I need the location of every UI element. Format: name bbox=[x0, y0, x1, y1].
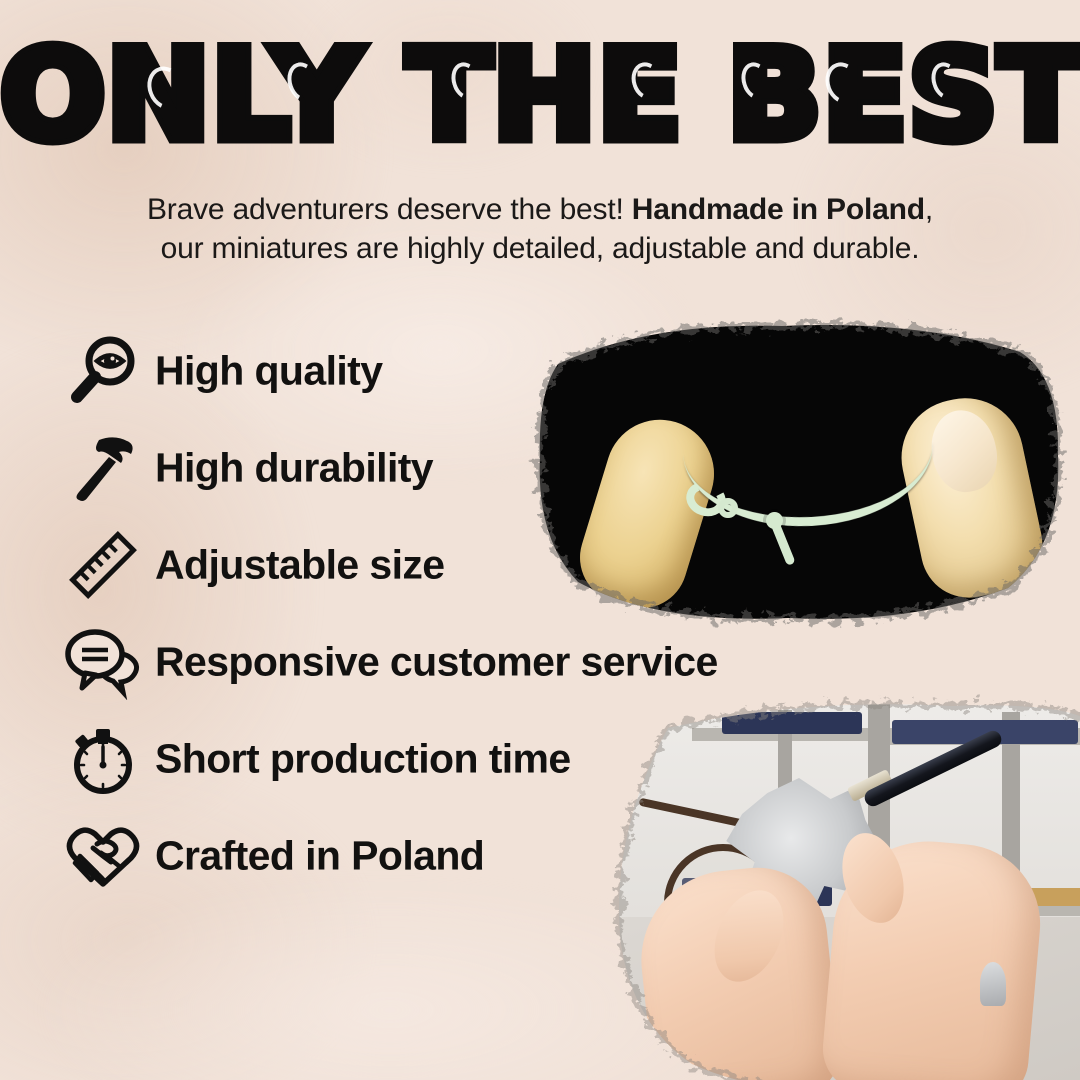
subtitle-line1: Brave adventurers deserve the best! Hand… bbox=[147, 193, 933, 226]
stopwatch-icon bbox=[62, 718, 144, 800]
photo-painting-workshop bbox=[572, 692, 1080, 1080]
feature-label: Crafted in Poland bbox=[155, 832, 484, 879]
feature-row: Adjustable size bbox=[0, 516, 640, 613]
feature-row: Responsive customer service bbox=[0, 613, 640, 710]
poster-canvas: ONLY THE BEST Brave adventurers deserve … bbox=[0, 0, 1080, 1080]
feature-list: High quality High durability bbox=[0, 322, 640, 904]
feature-label: Responsive customer service bbox=[155, 638, 718, 685]
feature-row: High durability bbox=[0, 419, 640, 516]
feature-label: High durability bbox=[155, 444, 433, 491]
feature-label: High quality bbox=[155, 347, 382, 394]
subtitle: Brave adventurers deserve the best! Hand… bbox=[0, 190, 1080, 268]
speech-bubbles-icon bbox=[62, 621, 144, 703]
feature-row: Short production time bbox=[0, 710, 640, 807]
feature-label: Adjustable size bbox=[155, 541, 444, 588]
magnifier-eye-icon bbox=[62, 330, 144, 412]
feature-label: Short production time bbox=[155, 735, 571, 782]
page-title: ONLY THE BEST bbox=[0, 34, 1080, 158]
subtitle-line2: our miniatures are highly detailed, adju… bbox=[161, 232, 920, 265]
feature-row: High quality bbox=[0, 322, 640, 419]
feature-row: Crafted in Poland bbox=[0, 807, 640, 904]
small-miniature bbox=[980, 962, 1006, 1006]
miniature-eyelet bbox=[718, 498, 738, 518]
ruler-icon bbox=[62, 524, 144, 606]
miniature-flexible-part bbox=[683, 442, 937, 533]
hammer-icon bbox=[62, 427, 144, 509]
heart-handshake-icon bbox=[62, 815, 144, 897]
